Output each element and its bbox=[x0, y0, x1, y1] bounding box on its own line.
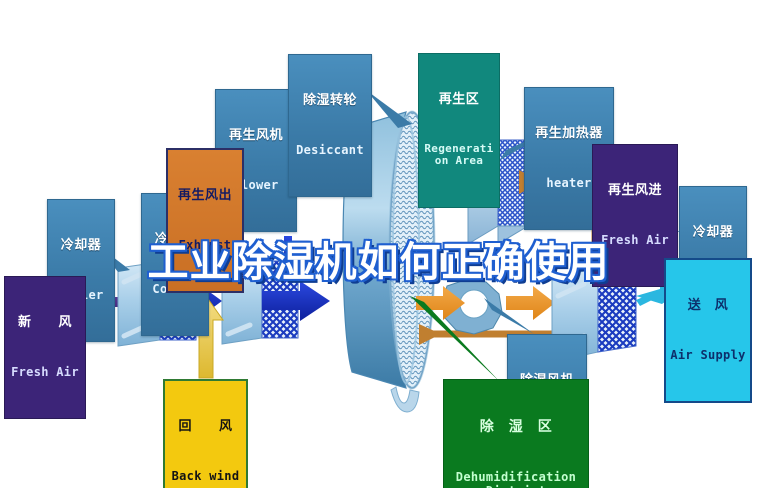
callout-regeneration-fresh-air-cn: 再生风进 bbox=[593, 184, 677, 199]
callout-dehumidification-district[interactable]: 除 湿 区 Dehumidification District bbox=[443, 379, 589, 488]
dehumidifier-diagram: xt 冷却器 Cooler 冷却器 Cooler 再生风机 Blower 除湿转… bbox=[0, 0, 757, 488]
arrow-dry-air-2 bbox=[506, 286, 555, 320]
callout-regeneration-area-cn: 再生区 bbox=[419, 93, 499, 108]
callout-dehumidification-district-en: Dehumidification District bbox=[444, 471, 588, 488]
callout-fresh-air-inlet-en: Fresh Air bbox=[5, 366, 85, 379]
callout-regeneration-area[interactable]: 再生区 Regenerati on Area bbox=[418, 53, 500, 208]
callout-fresh-air-inlet[interactable]: 新 风 Fresh Air bbox=[4, 276, 86, 419]
callout-desiccant-rotor[interactable]: 除湿转轮 Desiccant bbox=[288, 54, 372, 197]
callout-back-wind[interactable]: 回 风 Back wind bbox=[163, 379, 248, 488]
callout-back-wind-cn: 回 风 bbox=[165, 420, 246, 435]
callout-air-supply-en: Air Supply bbox=[666, 349, 750, 362]
page-title: 工业除湿机如何正确使用 bbox=[0, 228, 757, 288]
callout-air-supply-cn: 送 风 bbox=[666, 299, 750, 314]
callout-regeneration-area-en: Regenerati on Area bbox=[419, 143, 499, 168]
callout-desiccant-rotor-en: Desiccant bbox=[289, 144, 371, 157]
callout-back-wind-en: Back wind bbox=[165, 470, 246, 483]
svg-text:xt: xt bbox=[394, 321, 403, 333]
callout-dehumidification-district-cn: 除 湿 区 bbox=[444, 420, 588, 436]
callout-desiccant-rotor-cn: 除湿转轮 bbox=[289, 94, 371, 109]
callout-fresh-air-inlet-cn: 新 风 bbox=[5, 316, 85, 331]
callout-regeneration-heater-cn: 再生加热器 bbox=[525, 127, 613, 142]
callout-regeneration-blower-cn: 再生风机 bbox=[216, 129, 296, 144]
callout-exhaust-cn: 再生风出 bbox=[168, 189, 242, 204]
